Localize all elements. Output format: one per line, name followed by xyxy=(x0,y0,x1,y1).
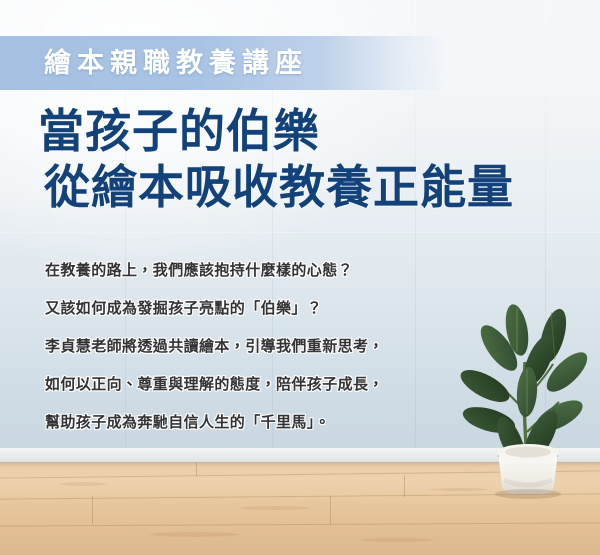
wood-grain xyxy=(360,538,434,542)
headline-line-2: 從繪本吸收教養正能量 xyxy=(44,160,578,216)
wood-grain xyxy=(60,482,106,486)
body-copy-block: 在教養的路上，我們應該抱持什麼樣的心態？ 又該如何成為發掘孩子亮點的「伯樂」？ … xyxy=(45,252,515,442)
body-line-2: 又該如何成為發掘孩子亮點的「伯樂」？ xyxy=(45,290,515,328)
floor-plank-joint xyxy=(196,462,197,476)
floor-plank-seam xyxy=(0,522,600,526)
wood-grain xyxy=(150,532,240,537)
wall-panel-line-horizontal xyxy=(0,232,600,233)
body-line-3: 李貞慧老師將透過共讀繪本，引導我們重新思考， xyxy=(45,328,515,366)
body-line-1: 在教養的路上，我們應該抱持什麼樣的心態？ xyxy=(45,252,515,290)
banner-bar: 繪本親職教養講座 xyxy=(0,36,446,90)
poster-root: 繪本親職教養講座 當孩子的伯樂 從繪本吸收教養正能量 在教養的路上，我們應該抱持… xyxy=(0,0,600,555)
floor-plank-joint xyxy=(404,475,405,497)
wood-grain xyxy=(240,506,310,510)
headline-line-1: 當孩子的伯樂 xyxy=(38,104,578,160)
floor-plank-joint xyxy=(330,496,331,524)
banner-title: 繪本親職教養講座 xyxy=(44,50,308,77)
body-line-5: 幫助孩子成為奔馳自信人生的「千里馬」。 xyxy=(45,404,515,442)
body-line-4: 如何以正向、尊重與理解的態度，陪伴孩子成長， xyxy=(45,366,515,404)
floor-plank-joint xyxy=(92,496,93,524)
headline-block: 當孩子的伯樂 從繪本吸收教養正能量 xyxy=(38,104,578,216)
